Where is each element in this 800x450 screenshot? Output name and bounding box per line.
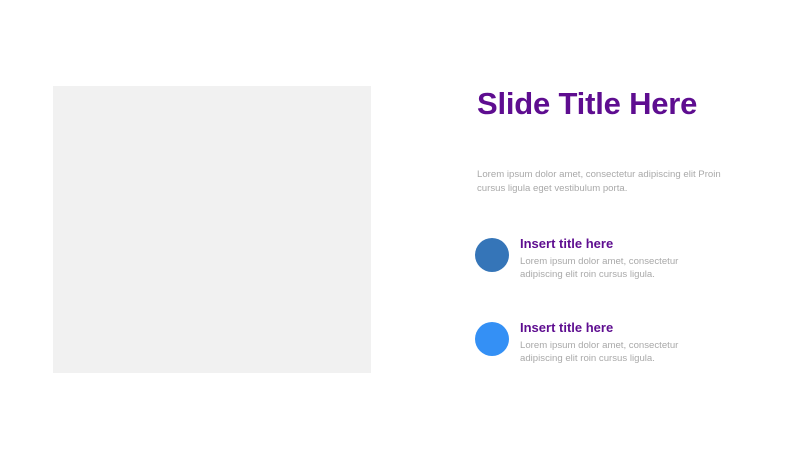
image-placeholder[interactable] — [53, 86, 371, 373]
list-item-text: Lorem ipsum dolor amet, consectetur adip… — [520, 256, 720, 281]
content-column: Slide Title Here Lorem ipsum dolor amet,… — [477, 86, 759, 122]
list-item-body: Insert title here Lorem ipsum dolor amet… — [520, 320, 720, 365]
presentation-slide: Slide Title Here Lorem ipsum dolor amet,… — [0, 0, 800, 450]
list-item[interactable]: Insert title here Lorem ipsum dolor amet… — [475, 320, 759, 404]
list-item-body: Insert title here Lorem ipsum dolor amet… — [520, 236, 720, 281]
list-item[interactable]: Insert title here Lorem ipsum dolor amet… — [475, 236, 759, 320]
page-title: Slide Title Here — [477, 86, 759, 122]
list-item-title: Insert title here — [520, 236, 720, 252]
circle-bullet-icon — [475, 322, 509, 356]
list-item-text: Lorem ipsum dolor amet, consectetur adip… — [520, 340, 720, 365]
slide-description: Lorem ipsum dolor amet, consectetur adip… — [477, 168, 739, 195]
circle-bullet-icon — [475, 238, 509, 272]
feature-list: Insert title here Lorem ipsum dolor amet… — [475, 236, 759, 404]
list-item-title: Insert title here — [520, 320, 720, 336]
